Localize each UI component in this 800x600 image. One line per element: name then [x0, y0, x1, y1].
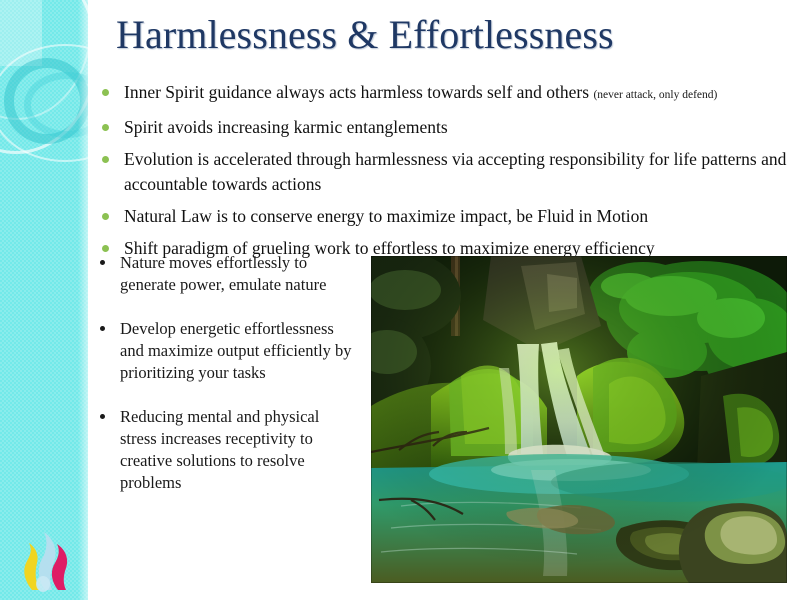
- page-title: Harmlessness & Effortlessness: [116, 12, 776, 58]
- main-bullet-list: Inner Spirit guidance always acts harmle…: [96, 80, 796, 268]
- bullet-dot-icon: [100, 326, 105, 331]
- bullet-dot-icon: [102, 213, 109, 220]
- bullet-text: Reducing mental and physical stress incr…: [120, 407, 319, 492]
- bullet-dot-icon: [102, 89, 109, 96]
- bullet-text: Nature moves effortlessly to generate po…: [120, 253, 326, 294]
- slide-canvas: Harmlessness & Effortlessness Inner Spir…: [0, 0, 800, 600]
- decorative-sidebar: [0, 0, 88, 600]
- bullet-dot-icon: [100, 260, 105, 265]
- list-item: Nature moves effortlessly to generate po…: [92, 252, 360, 296]
- bullet-text: Natural Law is to conserve energy to max…: [124, 206, 648, 226]
- bullet-note: (never attack, only defend): [593, 89, 717, 101]
- list-item: Evolution is accelerated through harmles…: [96, 147, 796, 197]
- bullet-text: Develop energetic effortlessness and max…: [120, 319, 352, 382]
- list-item: Natural Law is to conserve energy to max…: [96, 204, 796, 229]
- list-item: Reducing mental and physical stress incr…: [92, 406, 360, 494]
- list-item: Spirit avoids increasing karmic entangle…: [96, 115, 796, 140]
- sidebar-arc-2: [0, 44, 88, 162]
- bullet-dot-icon: [102, 124, 109, 131]
- bullet-text: Spirit avoids increasing karmic entangle…: [124, 117, 448, 137]
- waterfall-photo: [371, 256, 787, 583]
- bullet-dot-icon: [100, 414, 105, 419]
- bullet-text: Inner Spirit guidance always acts harmle…: [124, 82, 589, 102]
- bullet-dot-icon: [102, 156, 109, 163]
- flame-icon: [14, 520, 76, 592]
- sidebar-edge-fade: [78, 0, 88, 600]
- list-item: Inner Spirit guidance always acts harmle…: [96, 80, 796, 108]
- list-item: Develop energetic effortlessness and max…: [92, 318, 360, 384]
- bullet-text: Evolution is accelerated through harmles…: [124, 149, 786, 194]
- secondary-bullet-list: Nature moves effortlessly to generate po…: [92, 252, 360, 516]
- bullet-dot-icon: [102, 245, 109, 252]
